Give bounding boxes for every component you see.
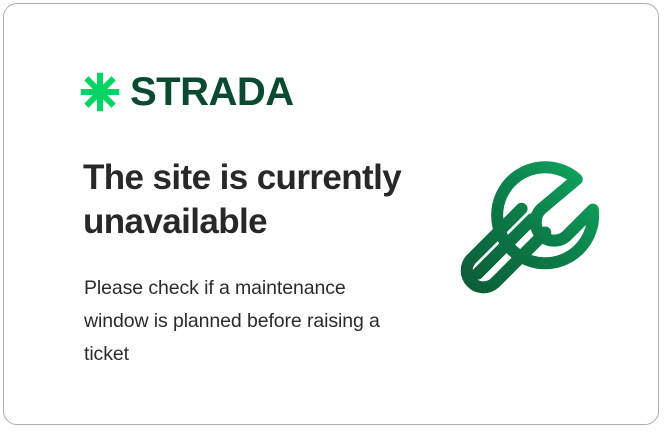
strada-asterisk-icon xyxy=(80,72,120,112)
page-title: The site is currently unavailable xyxy=(83,156,413,244)
page-description: Please check if a maintenance window is … xyxy=(84,272,394,371)
brand-wordmark: STRADA xyxy=(130,72,294,112)
message-card: STRADA The site is currently unavailable… xyxy=(3,3,659,425)
error-page: STRADA The site is currently unavailable… xyxy=(0,0,666,436)
brand-lockup: STRADA xyxy=(80,72,294,112)
wrench-icon xyxy=(456,156,616,316)
